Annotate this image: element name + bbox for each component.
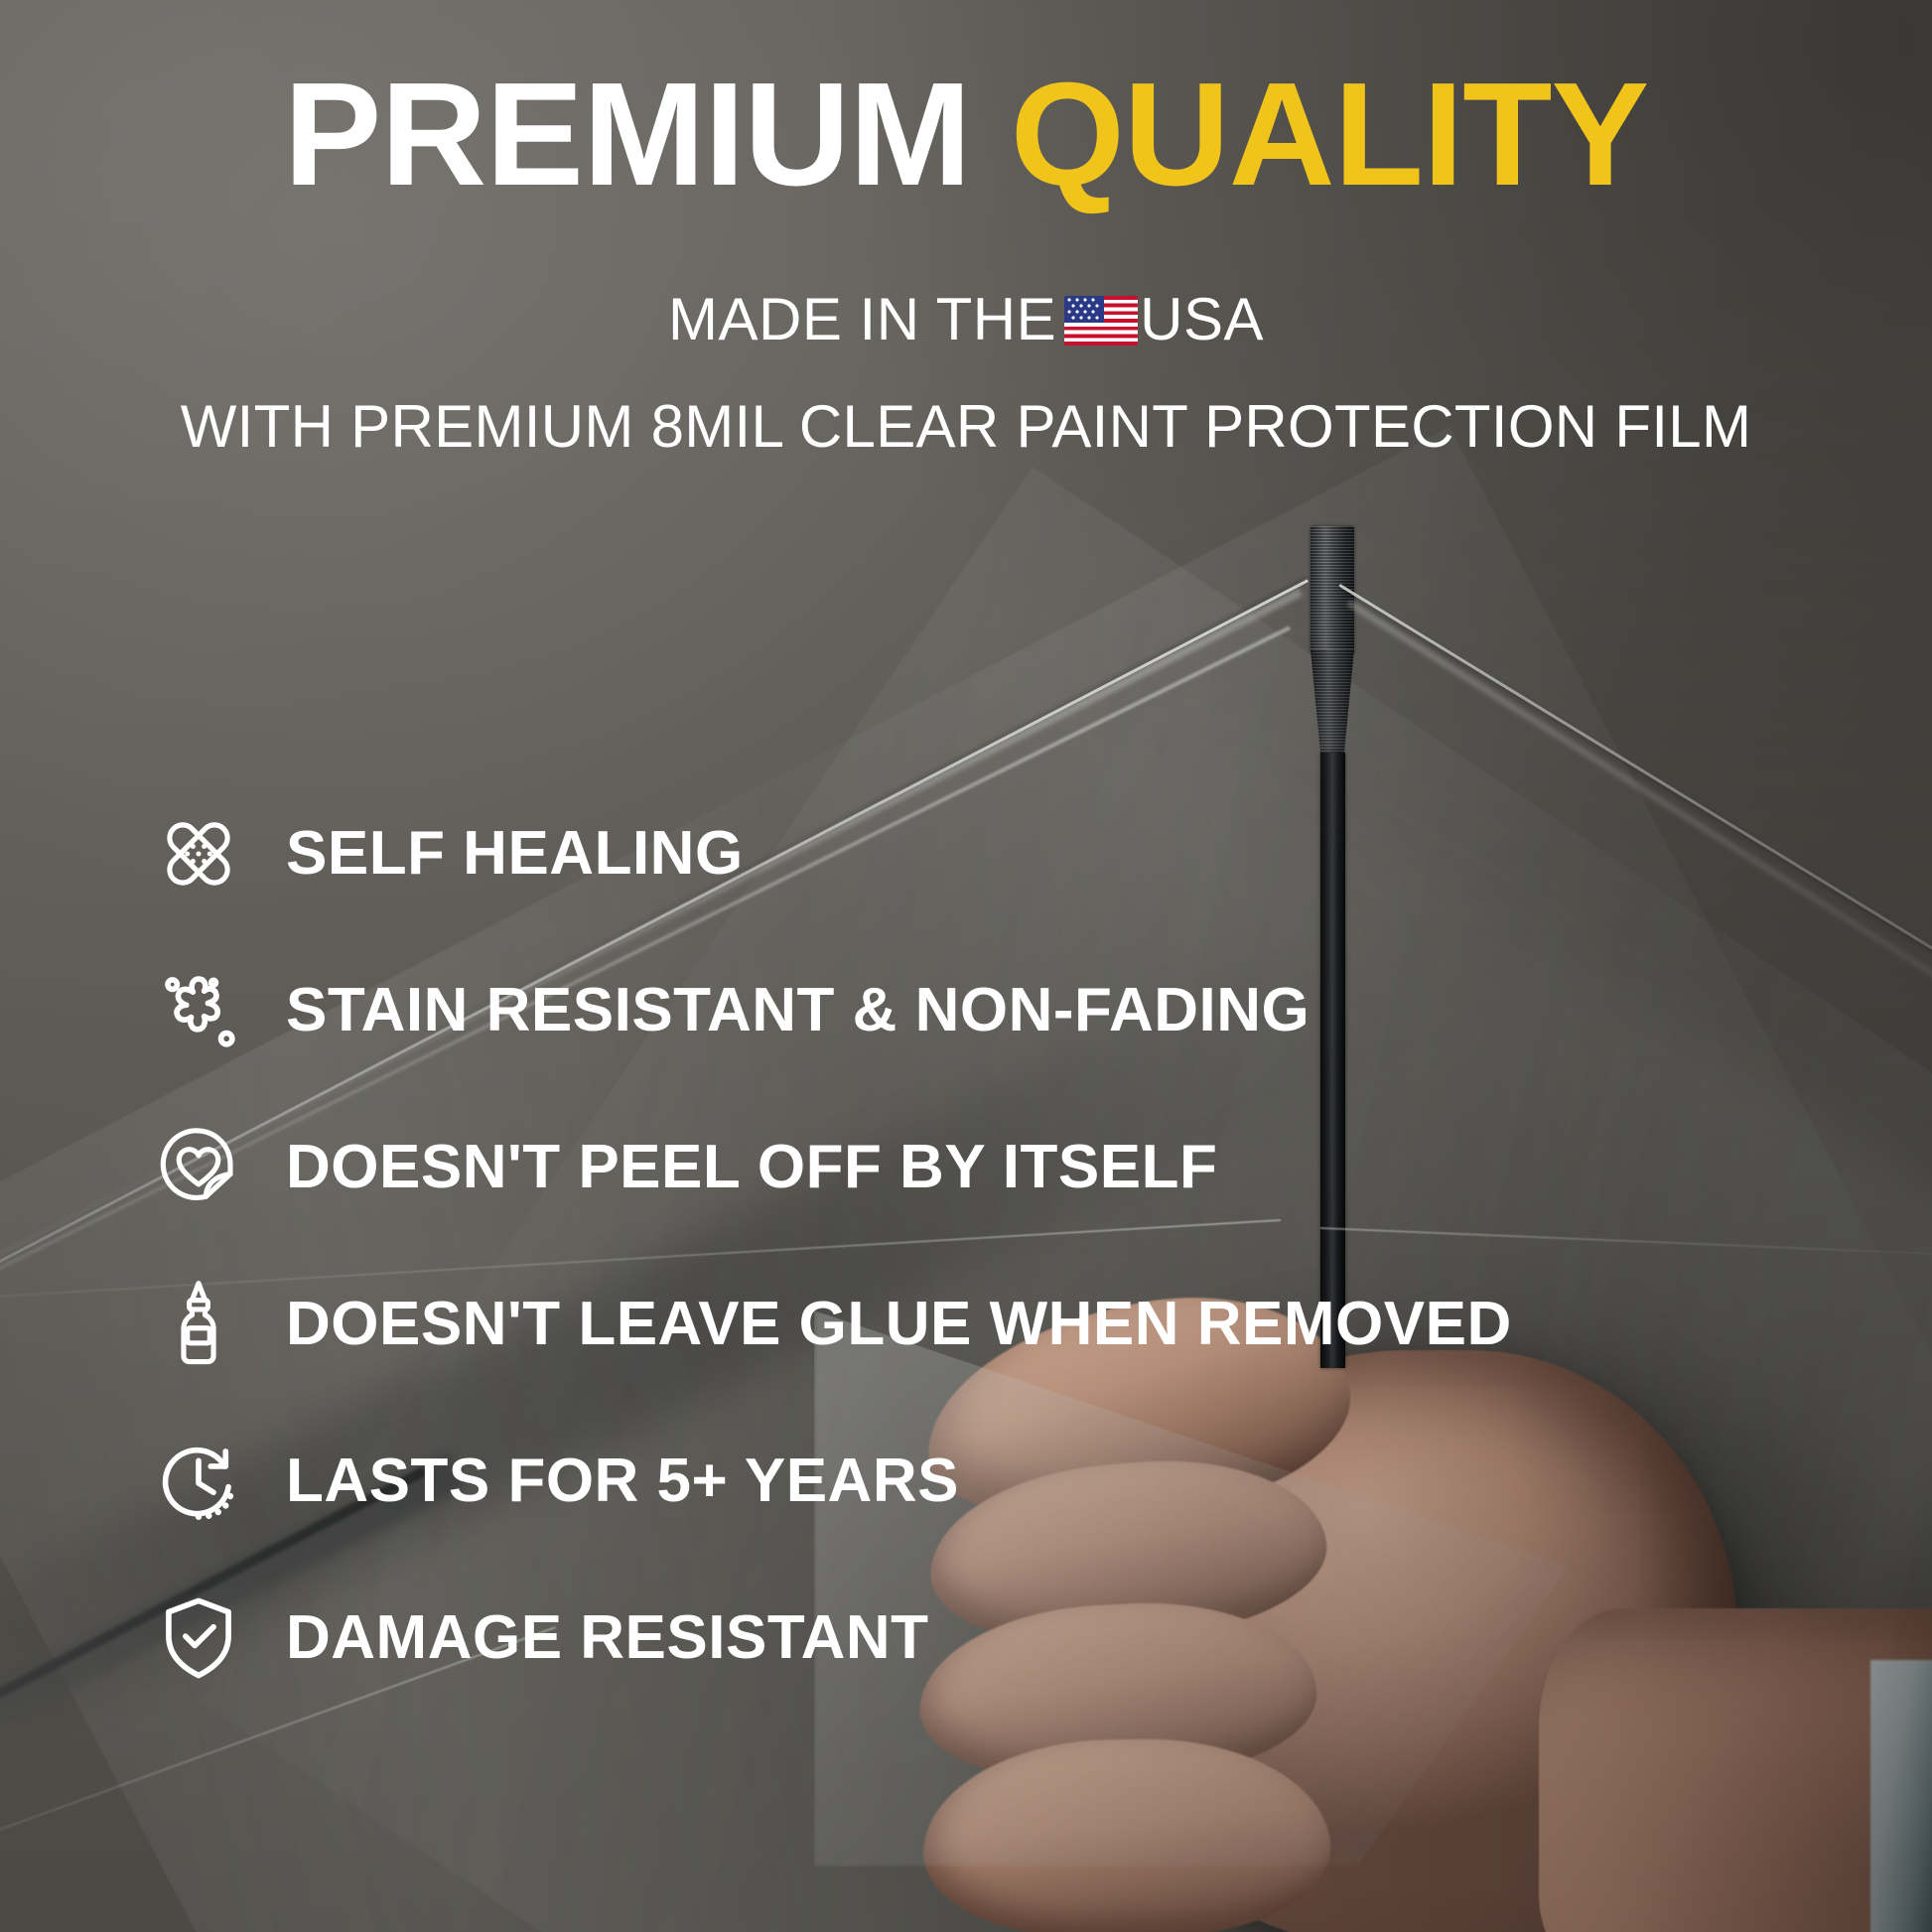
crossed-bandages-icon [147, 802, 250, 905]
overlay-content: PREMIUM QUALITY MADE IN THEUSA WITH PREM… [0, 0, 1932, 1932]
feature-row: LASTS FOR 5+ YEARS [147, 1427, 1835, 1536]
headline-word-quality: QUALITY [1011, 53, 1649, 216]
feature-row: STAIN RESISTANT & NON-FADING [147, 956, 1835, 1065]
feature-label: STAIN RESISTANT & NON-FADING [286, 980, 1310, 1041]
feature-row: DOESN'T LEAVE GLUE WHEN REMOVED [147, 1270, 1835, 1379]
stain-splat-icon [147, 959, 250, 1062]
feature-row: DAMAGE RESISTANT [147, 1584, 1835, 1693]
subtitle-line-2: WITH PREMIUM 8MIL CLEAR PAINT PROTECTION… [0, 397, 1932, 457]
subtitle-usa: USA [1140, 286, 1264, 352]
feature-label: DOESN'T LEAVE GLUE WHEN REMOVED [286, 1294, 1512, 1355]
feature-row: SELF HEALING [147, 799, 1835, 908]
feature-label: DAMAGE RESISTANT [286, 1607, 929, 1669]
feature-label: DOESN'T PEEL OFF BY ITSELF [286, 1137, 1217, 1198]
shield-check-icon [147, 1587, 250, 1690]
clock-rotate-icon [147, 1430, 250, 1533]
headline-word-premium: PREMIUM [284, 53, 971, 216]
feature-label: LASTS FOR 5+ YEARS [286, 1450, 959, 1512]
feature-list: SELF HEALING STAIN RESISTANT & NON-FADIN… [147, 799, 1835, 1740]
glue-bottle-icon [147, 1273, 250, 1376]
feature-label: SELF HEALING [286, 823, 744, 885]
headline: PREMIUM QUALITY [0, 62, 1932, 208]
subtitle-made-in-the: MADE IN THE [668, 286, 1056, 352]
flag-stars [1064, 296, 1104, 323]
subtitle-line-1: MADE IN THEUSA [0, 290, 1932, 349]
us-flag-icon [1064, 296, 1138, 345]
heart-sticker-peel-icon [147, 1116, 250, 1219]
feature-row: DOESN'T PEEL OFF BY ITSELF [147, 1113, 1835, 1222]
infographic-canvas: PREMIUM QUALITY MADE IN THEUSA WITH PREM… [0, 0, 1932, 1932]
